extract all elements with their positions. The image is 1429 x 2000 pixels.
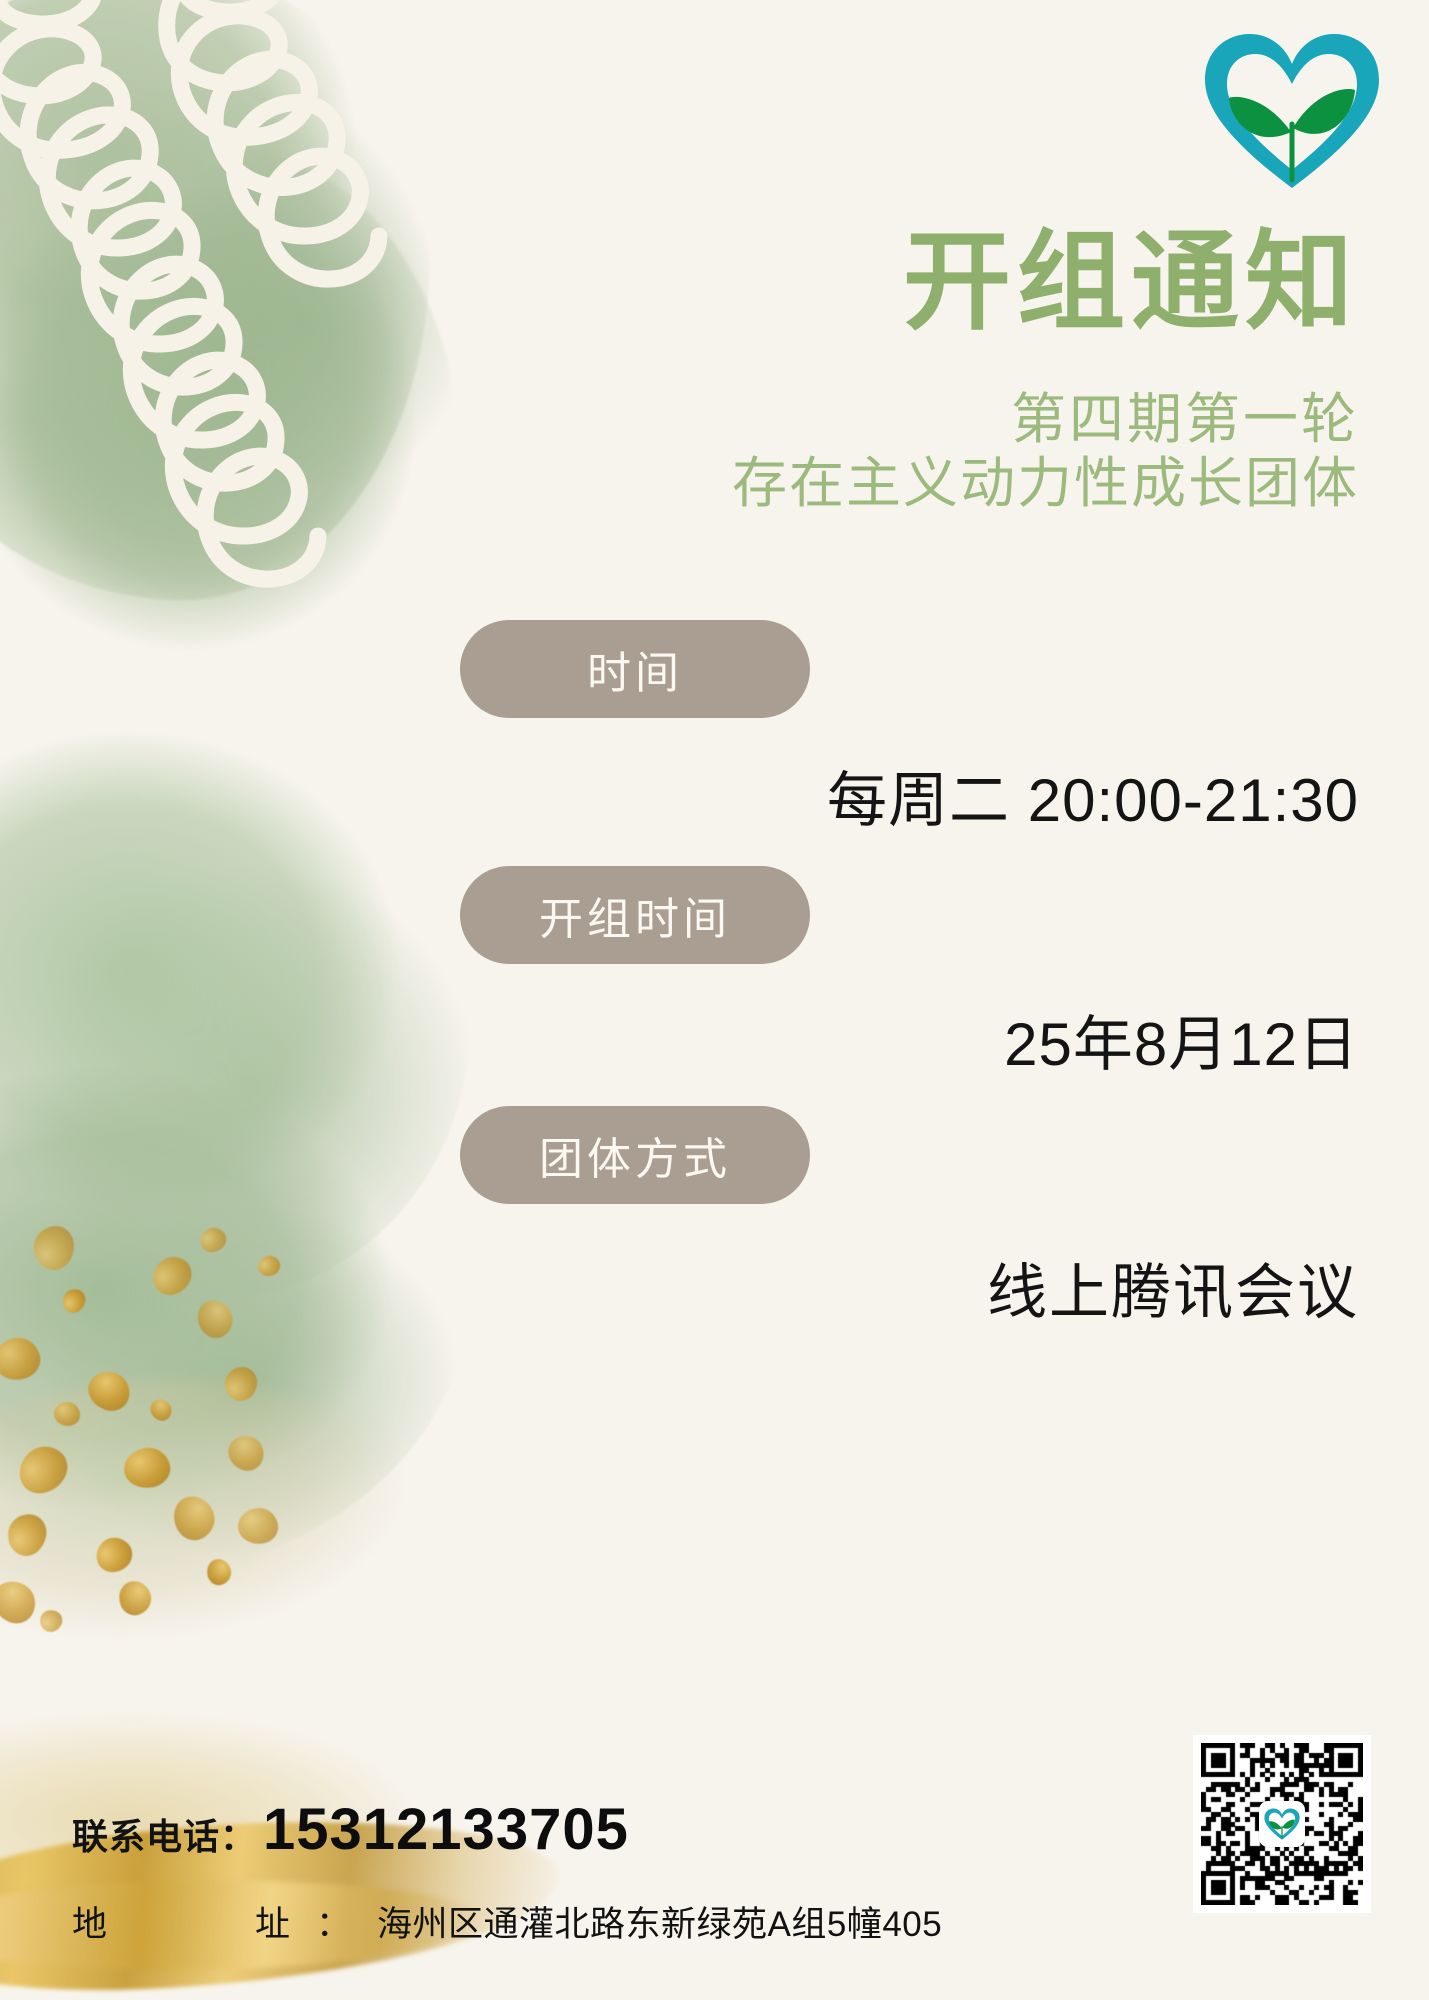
contact-address-row: 地 址：海州区通灌北路东新绿苑A组5幢405 bbox=[72, 1896, 942, 1947]
label-pill-start-date: 开组时间 bbox=[460, 866, 810, 964]
gold-speckle bbox=[204, 1556, 235, 1588]
gold-speckle bbox=[146, 1395, 176, 1424]
gold-speckle bbox=[34, 1226, 74, 1270]
contact-phone-number: 15312133705 bbox=[263, 1796, 629, 1863]
gold-speckle bbox=[5, 1511, 50, 1559]
gold-speckle bbox=[222, 1430, 269, 1476]
gold-speckle bbox=[191, 1294, 240, 1344]
gold-speckle bbox=[146, 1249, 199, 1303]
gold-speckle bbox=[121, 1444, 174, 1492]
content-column: 开组通知 第四期第一轮 存在主义动力性成长团体 时间 每周二 20:00-21:… bbox=[380, 0, 1429, 2000]
qr-center-logo bbox=[1259, 1801, 1305, 1847]
gold-speckle bbox=[224, 1366, 259, 1403]
contact-address-label: 地 址： bbox=[72, 1905, 377, 1944]
page-title: 开组通知 bbox=[903, 228, 1359, 336]
gold-speckle bbox=[195, 1223, 230, 1258]
label-pill-group-format: 团体方式 bbox=[460, 1106, 810, 1204]
poster-root: 开组通知 第四期第一轮 存在主义动力性成长团体 时间 每周二 20:00-21:… bbox=[0, 0, 1429, 2000]
contact-phone-label: 联系电话： bbox=[72, 1808, 257, 1860]
gold-speckle bbox=[0, 1332, 45, 1385]
gold-speckle bbox=[89, 1530, 139, 1579]
gold-speckle bbox=[10, 1437, 76, 1504]
gold-speckle bbox=[114, 1576, 156, 1620]
gold-speckle bbox=[37, 1607, 65, 1635]
label-pill-time: 时间 bbox=[460, 620, 810, 718]
wechat-qr-code[interactable] bbox=[1193, 1735, 1371, 1913]
contact-address-value: 海州区通灌北路东新绿苑A组5幢405 bbox=[377, 1905, 942, 1944]
gold-speckle bbox=[236, 1506, 280, 1546]
qr-heart-leaf-icon bbox=[1264, 1807, 1300, 1841]
gold-speckle bbox=[83, 1366, 136, 1417]
value-start-date: 25年8月12日 bbox=[1004, 996, 1359, 1083]
subtitle-line-1: 第四期第一轮 bbox=[1011, 388, 1359, 451]
gold-speckle bbox=[54, 1402, 80, 1426]
value-group-format: 线上腾讯会议 bbox=[987, 1244, 1359, 1331]
value-time: 每周二 20:00-21:30 bbox=[827, 752, 1359, 839]
gold-speckle bbox=[0, 1574, 43, 1631]
gold-speckle bbox=[60, 1287, 87, 1316]
gold-speckle bbox=[166, 1489, 222, 1546]
contact-phone-row: 联系电话： 15312133705 bbox=[72, 1796, 629, 1863]
gold-speckle bbox=[254, 1252, 283, 1281]
spiral-coil-decoration bbox=[0, 0, 410, 770]
subtitle-line-2: 存在主义动力性成长团体 bbox=[732, 452, 1359, 515]
